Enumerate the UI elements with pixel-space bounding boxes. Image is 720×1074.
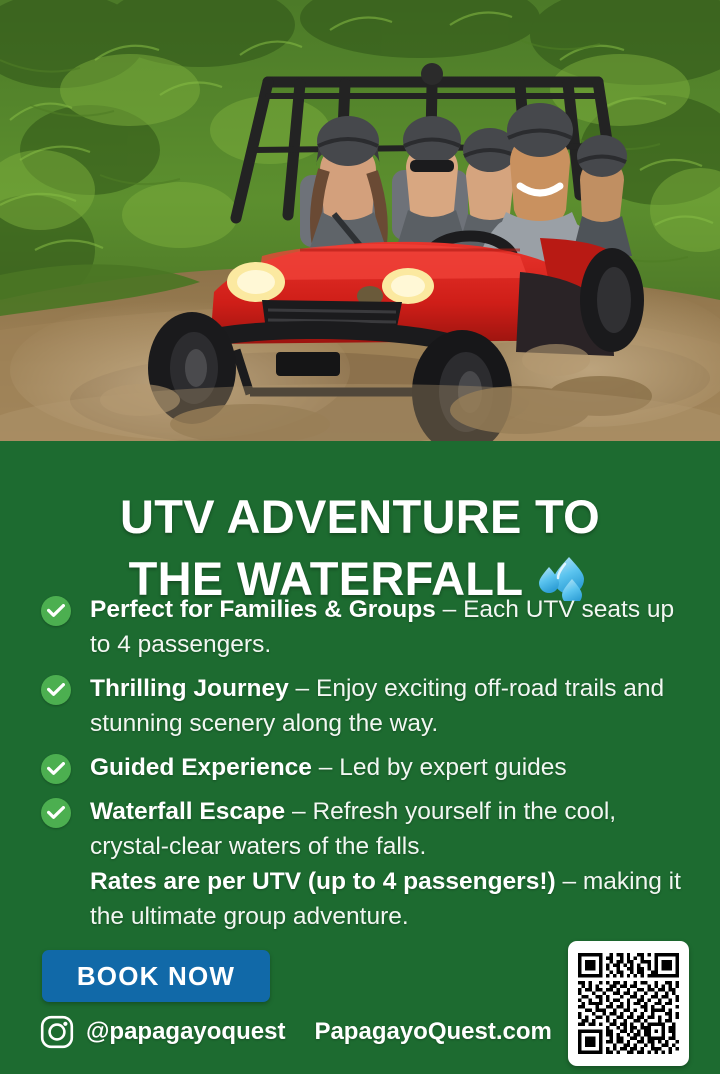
rates-heading: Rates are per UTV (up to 4 passengers!) xyxy=(90,868,556,895)
hero-photo-illustration xyxy=(0,0,720,441)
check-circle-icon xyxy=(41,675,71,705)
list-item: Perfect for Families & Groups – Each UTV… xyxy=(38,592,698,662)
qr-code-container[interactable] xyxy=(568,941,689,1066)
title-line-1: UTV ADVENTURE TO xyxy=(120,490,600,543)
instagram-handle[interactable]: @papagayoquest xyxy=(86,1018,285,1046)
list-item-text: Waterfall Escape – Refresh yourself in t… xyxy=(90,794,698,864)
list-item: Guided Experience – Led by expert guides xyxy=(38,750,698,785)
book-now-button[interactable]: BOOK NOW xyxy=(42,950,270,1002)
list-item-body: Led by expert guides xyxy=(339,754,566,781)
list-item: Waterfall Escape – Refresh yourself in t… xyxy=(38,794,698,864)
list-item-heading: Waterfall Escape xyxy=(90,798,285,825)
poster: UTV ADVENTURE TO THE WATERFALL Perfect f… xyxy=(0,0,720,1074)
list-item-dash: – xyxy=(312,754,339,781)
list-item-heading: Thrilling Journey xyxy=(90,675,289,702)
check-circle-icon xyxy=(41,798,71,828)
check-circle-icon xyxy=(41,596,71,626)
rates-dash: – xyxy=(556,868,583,895)
list-item-text: Guided Experience – Led by expert guides xyxy=(90,750,698,785)
hero-photo xyxy=(0,0,720,441)
qr-code[interactable] xyxy=(578,953,679,1054)
rates-note: Rates are per UTV (up to 4 passengers!) … xyxy=(90,864,710,934)
list-item-dash: – xyxy=(285,798,312,825)
social-row: @papagayoquest PapagayoQuest.com xyxy=(40,1015,552,1049)
list-item-dash: – xyxy=(436,596,463,623)
list-item: Thrilling Journey – Enjoy exciting off-r… xyxy=(38,671,698,741)
list-item-dash: – xyxy=(289,675,316,702)
check-circle-icon xyxy=(41,754,71,784)
list-item-heading: Perfect for Families & Groups xyxy=(90,596,436,623)
list-item-text: Perfect for Families & Groups – Each UTV… xyxy=(90,592,698,662)
list-item-text: Thrilling Journey – Enjoy exciting off-r… xyxy=(90,671,698,741)
website-url[interactable]: PapagayoQuest.com xyxy=(314,1018,551,1046)
list-item-heading: Guided Experience xyxy=(90,754,312,781)
instagram-icon[interactable] xyxy=(40,1015,74,1049)
feature-list: Perfect for Families & Groups – Each UTV… xyxy=(38,592,698,873)
